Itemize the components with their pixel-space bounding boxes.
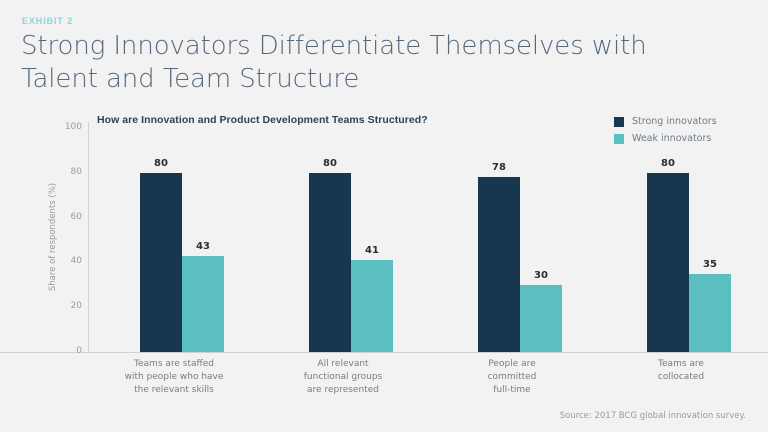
plot-area: Share of respondents (%) 100806040200 80… [0, 104, 768, 404]
x-axis-category-line: with people who have [99, 371, 249, 384]
bar-weak[interactable] [182, 256, 224, 352]
bar-weak[interactable] [520, 285, 562, 352]
page-title-line-1: Strong Innovators Differentiate Themselv… [21, 30, 661, 63]
y-axis-tick-label: 20 [52, 301, 82, 311]
bar-pair [258, 104, 428, 352]
x-axis-category-line: collocated [606, 371, 756, 384]
y-axis-tick-label: 80 [52, 167, 82, 177]
bar-strong[interactable] [140, 173, 182, 352]
x-axis-category-label: All relevantfunctional groupsare represe… [268, 358, 418, 397]
x-axis-category-line: committed [437, 371, 587, 384]
bar-group: 8041All relevantfunctional groupsare rep… [258, 104, 428, 404]
x-axis-category-line: Teams are [606, 358, 756, 371]
bar-groups: 8043Teams are staffedwith people who hav… [89, 104, 768, 404]
x-axis-category-label: Teams arecollocated [606, 358, 756, 384]
y-axis-tick-label: 100 [52, 122, 82, 132]
x-axis-category-line: functional groups [268, 371, 418, 384]
page-title-line-2: Talent and Team Structure [21, 63, 661, 96]
x-axis-category-label: People arecommittedfull-time [437, 358, 587, 397]
x-axis-category-line: the relevant skills [99, 384, 249, 397]
bar-weak[interactable] [351, 260, 393, 352]
bar-group: 7830People arecommittedfull-time [427, 104, 597, 404]
y-axis-tick-label: 60 [52, 212, 82, 222]
y-axis-ticks: 100806040200 [50, 104, 82, 404]
chart-panel: How are Innovation and Product Developme… [0, 104, 768, 404]
y-axis-tick-label: 40 [52, 256, 82, 266]
x-axis-category-label: Teams are staffedwith people who havethe… [99, 358, 249, 397]
bar-pair [427, 104, 597, 352]
bar-strong[interactable] [309, 173, 351, 352]
x-axis-category-line: People are [437, 358, 587, 371]
bar-strong[interactable] [647, 173, 689, 352]
bar-pair [596, 104, 766, 352]
source-note: Source: 2017 BCG global innovation surve… [560, 411, 746, 421]
exhibit-label: EXHIBIT 2 [22, 16, 73, 26]
bar-strong[interactable] [478, 177, 520, 352]
bar-group: 8035Teams arecollocated [596, 104, 766, 404]
bar-weak[interactable] [689, 274, 731, 352]
page-title: Strong Innovators Differentiate Themselv… [21, 30, 661, 96]
x-axis-category-line: are represented [268, 384, 418, 397]
bar-pair [89, 104, 259, 352]
x-axis-category-line: All relevant [268, 358, 418, 371]
bar-group: 8043Teams are staffedwith people who hav… [89, 104, 259, 404]
x-axis-category-line: Teams are staffed [99, 358, 249, 371]
y-axis-tick-label: 0 [52, 346, 82, 356]
x-axis-category-line: full-time [437, 384, 587, 397]
